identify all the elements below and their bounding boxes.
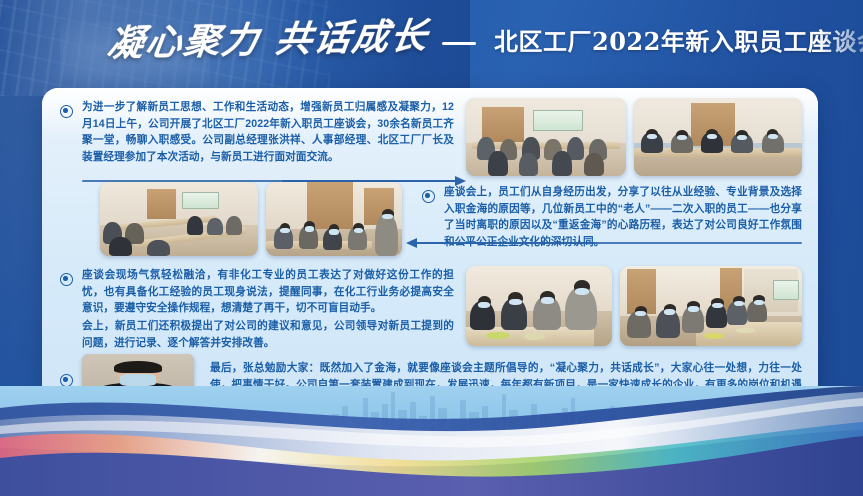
page-subtitle: 北区工厂2022年新入职员工座谈会	[494, 30, 863, 58]
poster-canvas: 凝心聚力共话成长 北区工厂2022年新入职员工座谈会 为进一步了解新员工思想、工…	[0, 0, 863, 496]
title-dash-separator	[442, 42, 476, 45]
bottom-decoration	[0, 386, 863, 496]
section-3-text: 座谈会现场气氛轻松融洽，有非化工专业的员工表达了对做好这份工作的担忧，也有具备化…	[82, 267, 454, 317]
circle-dot-icon	[60, 273, 73, 286]
meeting-room-photo-6[interactable]	[620, 266, 802, 346]
circle-dot-icon	[422, 190, 435, 203]
circle-dot-icon	[60, 105, 73, 118]
meeting-room-photo-1[interactable]	[466, 98, 626, 176]
section-2: 座谈会上，员工们从自身经历出发，分享了以往从业经验、专业背景及选择入职金海的原因…	[42, 180, 818, 266]
title-part-1: 凝心聚力	[105, 19, 263, 65]
poster-header: 凝心聚力共话成长 北区工厂2022年新入职员工座谈会	[0, 0, 863, 96]
meeting-room-photo-3[interactable]	[100, 182, 258, 256]
section-1-text: 为进一步了解新员工思想、工作和生活动态，增强新员工归属感及凝聚力，12月14日上…	[82, 99, 454, 165]
section-3-text-2: 会上，新员工们还积极提出了对公司的建议和意见，公司领导对新员工提到的问题，进行记…	[82, 318, 454, 351]
page-title-calligraphy: 凝心聚力共话成长	[105, 18, 431, 62]
title-part-2: 共话成长	[273, 15, 431, 61]
section-3: 座谈会现场气氛轻松融洽，有非化工专业的员工表达了对做好这份工作的担忧，也有具备化…	[42, 264, 818, 354]
meeting-room-photo-2[interactable]	[634, 98, 802, 176]
section-1: 为进一步了解新员工思想、工作和生活动态，增强新员工归属感及凝聚力，12月14日上…	[42, 96, 818, 184]
meeting-room-photo-5[interactable]	[466, 266, 612, 346]
meeting-room-photo-4[interactable]	[266, 182, 402, 256]
arrow-left-icon	[416, 242, 594, 244]
section-2-text: 座谈会上，员工们从自身经历出发，分享了以往从业经验、专业背景及选择入职金海的原因…	[444, 184, 802, 250]
content-card: 为进一步了解新员工思想、工作和生活动态，增强新员工归属感及凝聚力，12月14日上…	[42, 88, 818, 420]
